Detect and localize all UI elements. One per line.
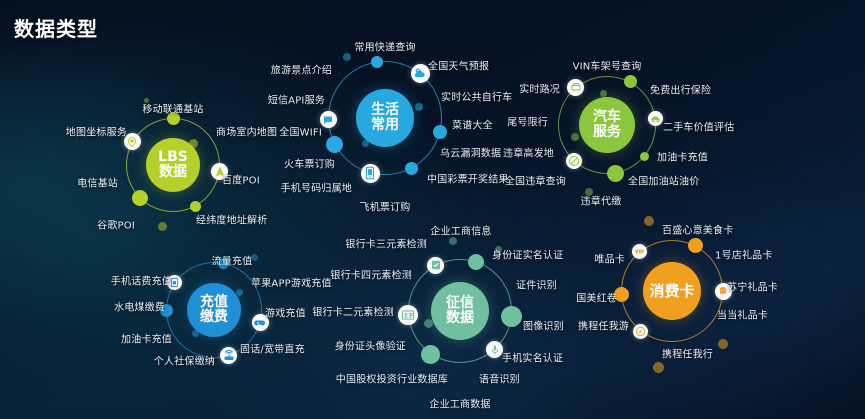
cluster-hub-label-line: 汽车 bbox=[593, 110, 621, 125]
cluster-label: 手机话费充值 bbox=[111, 273, 172, 288]
cluster-label: 语音识别 bbox=[479, 371, 520, 386]
cluster-label: 唯品卡 bbox=[594, 251, 625, 266]
travel-compass-icon[interactable] bbox=[633, 324, 648, 339]
cluster-hub-label-line: 数据 bbox=[446, 311, 474, 326]
cluster-label: 加油卡充值 bbox=[657, 149, 708, 164]
cluster-hub-label-line: 充值 bbox=[200, 295, 228, 310]
cluster-label: 银行卡四元素检测 bbox=[330, 267, 412, 282]
document-check-icon[interactable] bbox=[427, 257, 444, 274]
cluster-label: 当当礼品卡 bbox=[717, 307, 768, 322]
microphone-icon[interactable] bbox=[486, 341, 503, 358]
no-entry-icon[interactable] bbox=[566, 153, 582, 169]
car-side-icon[interactable] bbox=[648, 111, 663, 126]
orbit-node-dot bbox=[644, 216, 654, 226]
cluster-hub-credit[interactable]: 征信数据 bbox=[431, 282, 489, 340]
cluster-label: 全国加油站油价 bbox=[628, 173, 699, 188]
cluster-hub-card[interactable]: 消费卡 bbox=[643, 262, 701, 320]
cluster-label: 加油卡充值 bbox=[121, 331, 172, 346]
cluster-label: 经纬度地址解析 bbox=[196, 212, 267, 227]
cluster-label: 身份证实名认证 bbox=[492, 247, 563, 262]
cluster-label: 实时路况 bbox=[519, 81, 560, 96]
cluster-label: 游戏充值 bbox=[265, 305, 306, 320]
router-icon[interactable] bbox=[220, 347, 237, 364]
cloud-weather-icon[interactable] bbox=[411, 64, 430, 83]
orbit-node-dot bbox=[433, 125, 447, 139]
cluster-label: 谷歌POI bbox=[97, 217, 135, 232]
cluster-label: 图像识别 bbox=[523, 318, 564, 333]
cluster-label: 地图坐标服务 bbox=[66, 124, 127, 139]
cluster-label: 携程任我行 bbox=[662, 346, 713, 361]
cluster-label: 火车票订购 bbox=[284, 156, 335, 171]
slide-canvas: 数据类型 LBS数据移动联通基站地图坐标服务商场室内地图电信基站百度POI谷歌P… bbox=[0, 0, 865, 419]
chat-bubble-icon[interactable] bbox=[320, 111, 337, 128]
cluster-label: 移动联通基站 bbox=[142, 101, 203, 116]
cluster-label: 国美红卷 bbox=[576, 290, 617, 305]
cluster-label: 二手车价值评估 bbox=[663, 119, 734, 134]
cluster-label: 水电煤缴费 bbox=[114, 299, 165, 314]
cluster-label: 短信API服务 bbox=[268, 92, 325, 107]
orbit-node-dot bbox=[571, 133, 579, 141]
cluster-label: 身份证头像验证 bbox=[335, 338, 406, 353]
orbit-node-dot bbox=[132, 190, 148, 206]
cluster-hub-label-line: 缴费 bbox=[200, 310, 228, 325]
id-card-icon[interactable] bbox=[398, 305, 418, 325]
cluster-hub-label: 生活常用 bbox=[371, 103, 399, 133]
cluster-hub-label-line: LBS bbox=[158, 150, 188, 165]
cluster-label: 携程任我游 bbox=[578, 318, 629, 333]
cluster-hub-lbs[interactable]: LBS数据 bbox=[146, 138, 200, 192]
orbit-node-dot bbox=[449, 237, 457, 245]
cluster-hub-label-line: 常用 bbox=[371, 118, 399, 133]
cluster-hub-label-line: 生活 bbox=[371, 103, 399, 118]
mobile-phone-icon[interactable] bbox=[361, 164, 380, 183]
cluster-hub-label: LBS数据 bbox=[158, 150, 188, 180]
orbit-node-dot bbox=[190, 201, 201, 212]
cluster-label: 全国天气预报 bbox=[428, 58, 489, 73]
cluster-hub-label-line: 消费卡 bbox=[649, 283, 694, 299]
cluster-label: 商场室内地图 bbox=[216, 124, 277, 139]
orbit-node-dot bbox=[607, 165, 624, 182]
cluster-label: 证件识别 bbox=[516, 277, 557, 292]
orbit-node-dot bbox=[640, 152, 649, 161]
cluster-label: 手机实名认证 bbox=[502, 350, 563, 365]
cluster-label: 流量充值 bbox=[212, 253, 253, 268]
cluster-label: 百度POI bbox=[222, 172, 260, 187]
cluster-label: 全国WIFI bbox=[279, 124, 322, 139]
cluster-label: 银行卡二元素检测 bbox=[312, 304, 394, 319]
cluster-label: 旅游景点介绍 bbox=[271, 62, 332, 77]
cluster-label: 个人社保缴纳 bbox=[154, 353, 215, 368]
cluster-label: 尾号限行 bbox=[507, 114, 548, 129]
cluster-label: 苏宁礼品卡 bbox=[727, 279, 778, 294]
cluster-label: 电信基站 bbox=[77, 175, 118, 190]
cluster-hub-label-line: 服务 bbox=[593, 125, 621, 140]
orbit-node-dot bbox=[501, 306, 522, 327]
cluster-hub-label: 征信数据 bbox=[446, 296, 474, 326]
orbit-node-dot bbox=[718, 339, 728, 349]
cluster-label: 全国违章查询 bbox=[505, 173, 566, 188]
cluster-label: 飞机票订购 bbox=[360, 199, 411, 214]
cluster-label: 免费出行保险 bbox=[650, 82, 711, 97]
page-title: 数据类型 bbox=[14, 13, 98, 42]
cluster-label: 企业工商信息 bbox=[430, 223, 491, 238]
orbit-node-dot bbox=[343, 53, 351, 61]
orbit-node-dot bbox=[600, 90, 607, 97]
cluster-hub-label: 消费卡 bbox=[649, 283, 694, 299]
cluster-label: 菜谱大全 bbox=[452, 117, 493, 132]
cluster-label: 苹果APP游戏充值 bbox=[251, 275, 332, 290]
vip-badge-icon[interactable] bbox=[632, 244, 647, 259]
cluster-label: 银行卡三元素检测 bbox=[345, 236, 427, 251]
orbit-node-dot bbox=[158, 222, 167, 231]
cluster-label: VIN车架号查询 bbox=[573, 58, 642, 73]
cluster-hub-life[interactable]: 生活常用 bbox=[356, 89, 414, 147]
cluster-hub-auto[interactable]: 汽车服务 bbox=[579, 97, 635, 153]
cluster-label: 固话/宽带直充 bbox=[240, 341, 305, 356]
orbit-node-dot bbox=[624, 75, 637, 88]
orbit-node-dot bbox=[468, 254, 484, 270]
cluster-hub-label: 汽车服务 bbox=[593, 110, 621, 140]
cluster-hub-label-line: 数据 bbox=[158, 165, 188, 180]
cluster-label: 中国股权投资行业数据库 bbox=[336, 371, 448, 386]
cluster-label: 1号店礼品卡 bbox=[715, 247, 773, 262]
cluster-label: 百盛心意美食卡 bbox=[662, 222, 733, 237]
cluster-hub-label-line: 征信 bbox=[446, 296, 474, 311]
cluster-label: 违章高发地 bbox=[503, 145, 554, 160]
car-front-icon[interactable] bbox=[567, 79, 584, 96]
cluster-label: 实时公共自行车 bbox=[441, 89, 512, 104]
cluster-label: 中国彩票开奖结果 bbox=[427, 171, 509, 186]
cluster-label: 乌云漏洞数据 bbox=[440, 145, 501, 160]
orbit-node-dot bbox=[653, 362, 664, 373]
cluster-label: 企业工商数据 bbox=[429, 396, 490, 411]
cluster-hub-label: 充值缴费 bbox=[200, 295, 228, 325]
cluster-label: 手机号码归属地 bbox=[281, 180, 352, 195]
orbit-node-dot bbox=[371, 56, 383, 68]
orbit-node-dot bbox=[421, 345, 440, 364]
orbit-node-dot bbox=[405, 162, 418, 175]
cluster-label: 违章代缴 bbox=[581, 193, 622, 208]
cluster-hub-recharge[interactable]: 充值缴费 bbox=[187, 283, 241, 337]
cluster-label: 常用快递查询 bbox=[354, 39, 415, 54]
